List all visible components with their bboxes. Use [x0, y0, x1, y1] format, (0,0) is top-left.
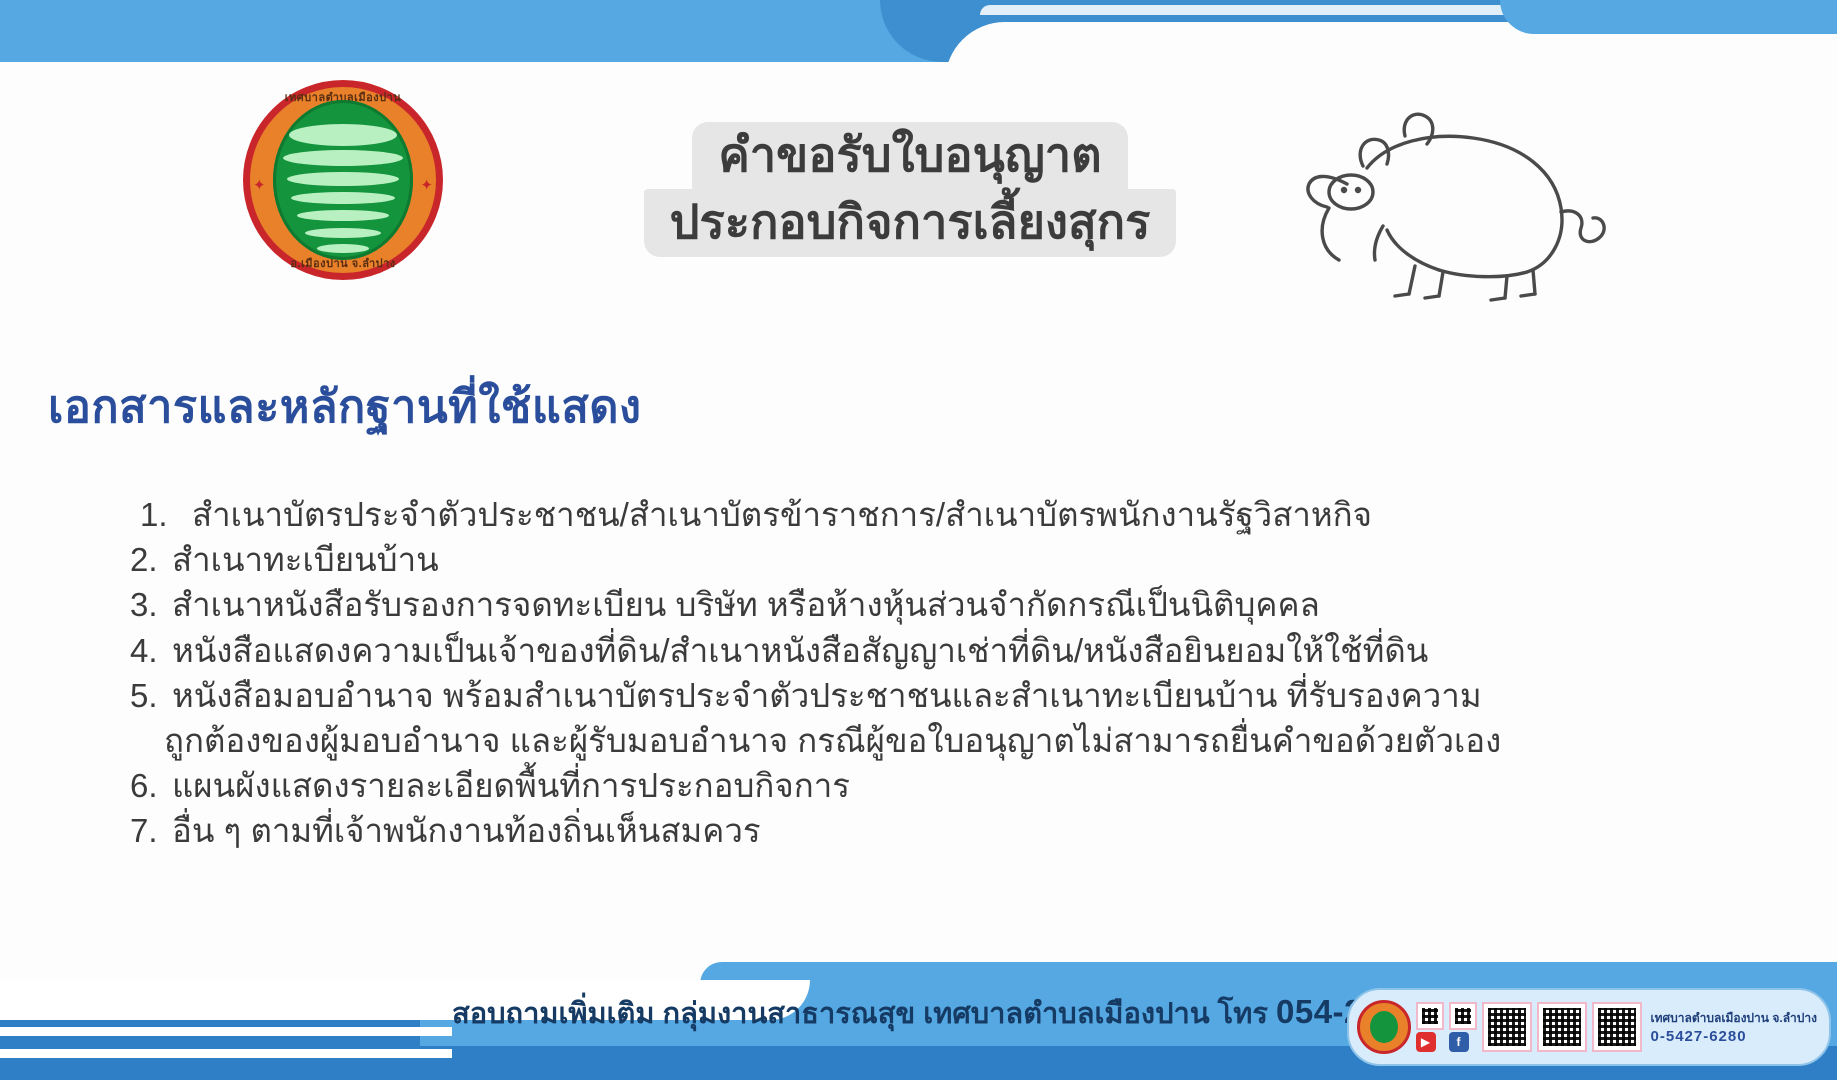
municipal-seal-logo: เทศบาลตำบลเมืองปาน อ.เมืองปาน จ.ลำปาง ✦ … — [243, 80, 443, 280]
list-item-number: 6. — [130, 763, 172, 808]
qr-code-extra[interactable] — [1592, 1002, 1642, 1052]
list-item-text: สำเนาบัตรประจำตัวประชาชน/สำเนาบัตรข้าราช… — [192, 492, 1730, 537]
pig-illustration-icon — [1255, 80, 1675, 310]
list-item: 3. สำเนาหนังสือรับรองการจดทะเบียน บริษัท… — [130, 582, 1730, 627]
qr-code-website[interactable] — [1482, 1002, 1532, 1052]
seal-mountain-emblem — [273, 100, 413, 260]
page-title: เอกสารและหลักฐานที่ใช้แสดง — [48, 382, 642, 432]
social-icons[interactable]: ▶ — [1416, 1002, 1444, 1052]
badge-phone: 0-5427-6280 — [1651, 1028, 1817, 1045]
qr-code-social[interactable] — [1449, 1002, 1477, 1030]
qr-code-app[interactable] — [1537, 1002, 1587, 1052]
badge-seal-icon — [1357, 1000, 1411, 1054]
list-item-number: 5. — [130, 673, 172, 718]
list-item: 5. หนังสือมอบอำนาจ พร้อมสำเนาบัตรประจำตั… — [130, 673, 1730, 718]
youtube-icon[interactable]: ▶ — [1416, 1032, 1436, 1052]
list-item: 1. สำเนาบัตรประจำตัวประชาชน/สำเนาบัตรข้า… — [130, 492, 1730, 537]
list-item-continuation: ถูกต้องของผู้มอบอำนาจ และผู้รับมอบอำนาจ … — [130, 718, 1730, 763]
poster-canvas: เทศบาลตำบลเมืองปาน อ.เมืองปาน จ.ลำปาง ✦ … — [0, 0, 1837, 1080]
qr-code-line[interactable] — [1416, 1002, 1444, 1030]
list-item-number: 4. — [130, 628, 172, 673]
badge-org-name: เทศบาลตำบลเมืองปาน จ.ลำปาง — [1651, 1009, 1817, 1028]
badge-text-block: เทศบาลตำบลเมืองปาน จ.ลำปาง 0-5427-6280 — [1651, 1009, 1817, 1045]
list-item: 4. หนังสือแสดงความเป็นเจ้าของที่ดิน/สำเน… — [130, 628, 1730, 673]
list-item-text: สำเนาทะเบียนบ้าน — [172, 537, 1730, 582]
list-item-number: 3. — [130, 582, 172, 627]
list-item: 7. อื่น ๆ ตามที่เจ้าพนักงานท้องถิ่นเห็นส… — [130, 808, 1730, 853]
footer-light-top — [700, 962, 1837, 984]
seal-left-star-icon: ✦ — [253, 176, 266, 194]
list-item-text: หนังสือแสดงความเป็นเจ้าของที่ดิน/สำเนาหน… — [172, 628, 1730, 673]
list-item-text: ถูกต้องของผู้มอบอำนาจ และผู้รับมอบอำนาจ … — [164, 718, 1730, 763]
title-line-1: คำขอรับใบอนุญาต — [692, 122, 1127, 191]
list-item-number: 1. — [130, 492, 192, 537]
list-item-text: อื่น ๆ ตามที่เจ้าพนักงานท้องถิ่นเห็นสมคว… — [172, 808, 1730, 853]
list-item: 2. สำเนาทะเบียนบ้าน — [130, 537, 1730, 582]
title-plaque: คำขอรับใบอนุญาต ประกอบกิจการเลี้ยงสุกร — [560, 122, 1260, 257]
footer-stripe-bottom — [0, 1049, 452, 1058]
list-item-number: 2. — [130, 537, 172, 582]
list-item-number: 7. — [130, 808, 172, 853]
facebook-icon[interactable]: f — [1449, 1032, 1469, 1052]
contact-badge-strip[interactable]: ▶ f เทศบาลตำบลเมืองปาน จ.ลำปาง 0-5427-62… — [1347, 988, 1831, 1066]
list-item: 6. แผนผังแสดงรายละเอียดพื้นที่การประกอบก… — [130, 763, 1730, 808]
social-icons-2[interactable]: f — [1449, 1002, 1477, 1052]
top-band-tail — [1500, 0, 1837, 34]
footer-contact-text: สอบถามเพิ่มเติม กลุ่มงานสาธารณสุข เทศบาล… — [452, 990, 1457, 1036]
list-item-text: สำเนาหนังสือรับรองการจดทะเบียน บริษัท หร… — [172, 582, 1730, 627]
title-line-2: ประกอบกิจการเลี้ยงสุกร — [644, 189, 1177, 258]
documents-list: 1. สำเนาบัตรประจำตัวประชาชน/สำเนาบัตรข้า… — [130, 492, 1730, 854]
footer-contact-label: สอบถามเพิ่มเติม กลุ่มงานสาธารณสุข เทศบาล… — [452, 998, 1276, 1030]
list-item-text: แผนผังแสดงรายละเอียดพื้นที่การประกอบกิจก… — [172, 763, 1730, 808]
footer-stripe-top — [0, 1027, 452, 1036]
list-item-text: หนังสือมอบอำนาจ พร้อมสำเนาบัตรประจำตัวปร… — [172, 673, 1730, 718]
seal-right-star-icon: ✦ — [420, 176, 433, 194]
